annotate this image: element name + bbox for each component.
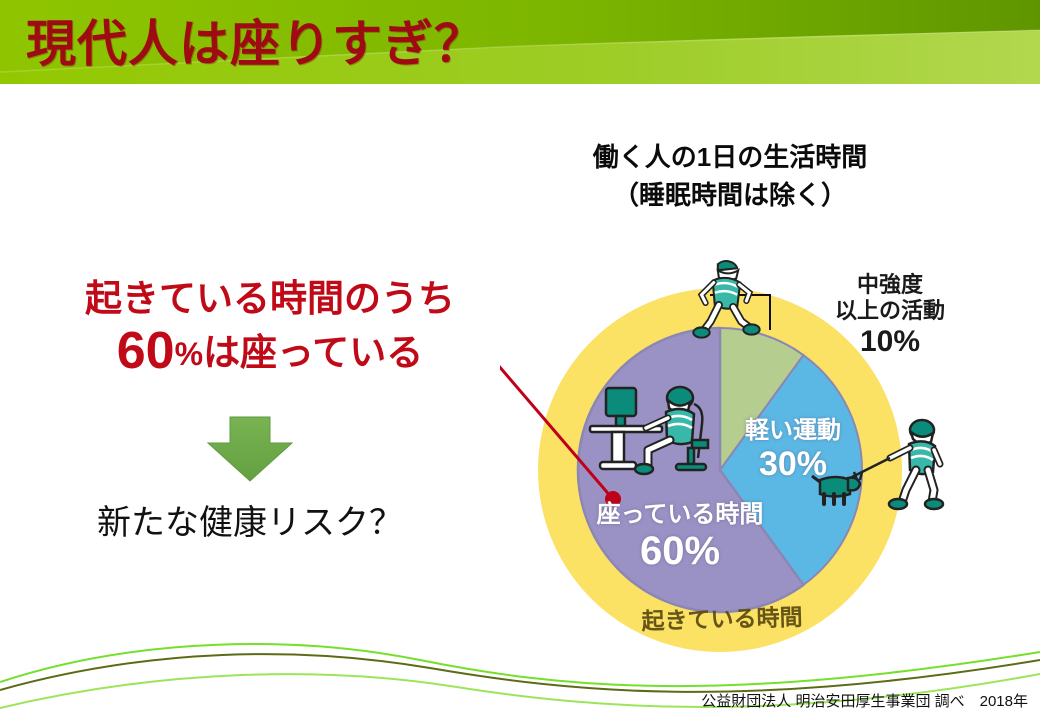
headline-line-1: 起きている時間のうち [60, 268, 480, 322]
headline-percent: % [175, 336, 203, 372]
headline-rest: は座っている [203, 332, 423, 373]
slice-label-sitting-time-text: 座っている時間 [597, 501, 764, 528]
headline-line-2: 60%は座っている [60, 322, 480, 377]
slice-value-moderate-activity: 10% [810, 325, 970, 360]
slice-label-moderate-activity-line-1: 中強度 [810, 272, 970, 298]
header-banner: 現代人は座りすぎ？ [0, 0, 1040, 92]
slide-canvas: 現代人は座りすぎ？ 起きている時間のうち 60%は座っている 新たな健康リスク？… [0, 0, 1040, 720]
slice-label-light-exercise-text: 軽い運動 [745, 417, 841, 444]
down-arrow-icon [200, 415, 300, 490]
slice-value-sitting-time: 60% [570, 529, 790, 574]
slice-label-light-exercise: 軽い運動 30% [718, 418, 868, 483]
slice-label-sitting-time: 座っている時間 60% [570, 502, 790, 574]
headline-number: 60 [117, 322, 175, 380]
chart-title-line-2: （睡眠時間は除く） [520, 176, 940, 214]
chart-title: 働く人の1日の生活時間 （睡眠時間は除く） [520, 138, 940, 214]
source-credit: 公益財団法人 明治安田厚生事業団 調べ 2018年 [701, 690, 1028, 711]
page-title: 現代人は座りすぎ？ [26, 9, 485, 79]
conclusion-text: 新たな健康リスク？ [40, 495, 460, 544]
slice-label-moderate-activity: 中強度 以上の活動 10% [810, 272, 970, 360]
slice-label-moderate-activity-line-2: 以上の活動 [810, 298, 970, 324]
chart-title-line-1: 働く人の1日の生活時間 [520, 138, 940, 176]
slice-value-light-exercise: 30% [718, 445, 868, 483]
